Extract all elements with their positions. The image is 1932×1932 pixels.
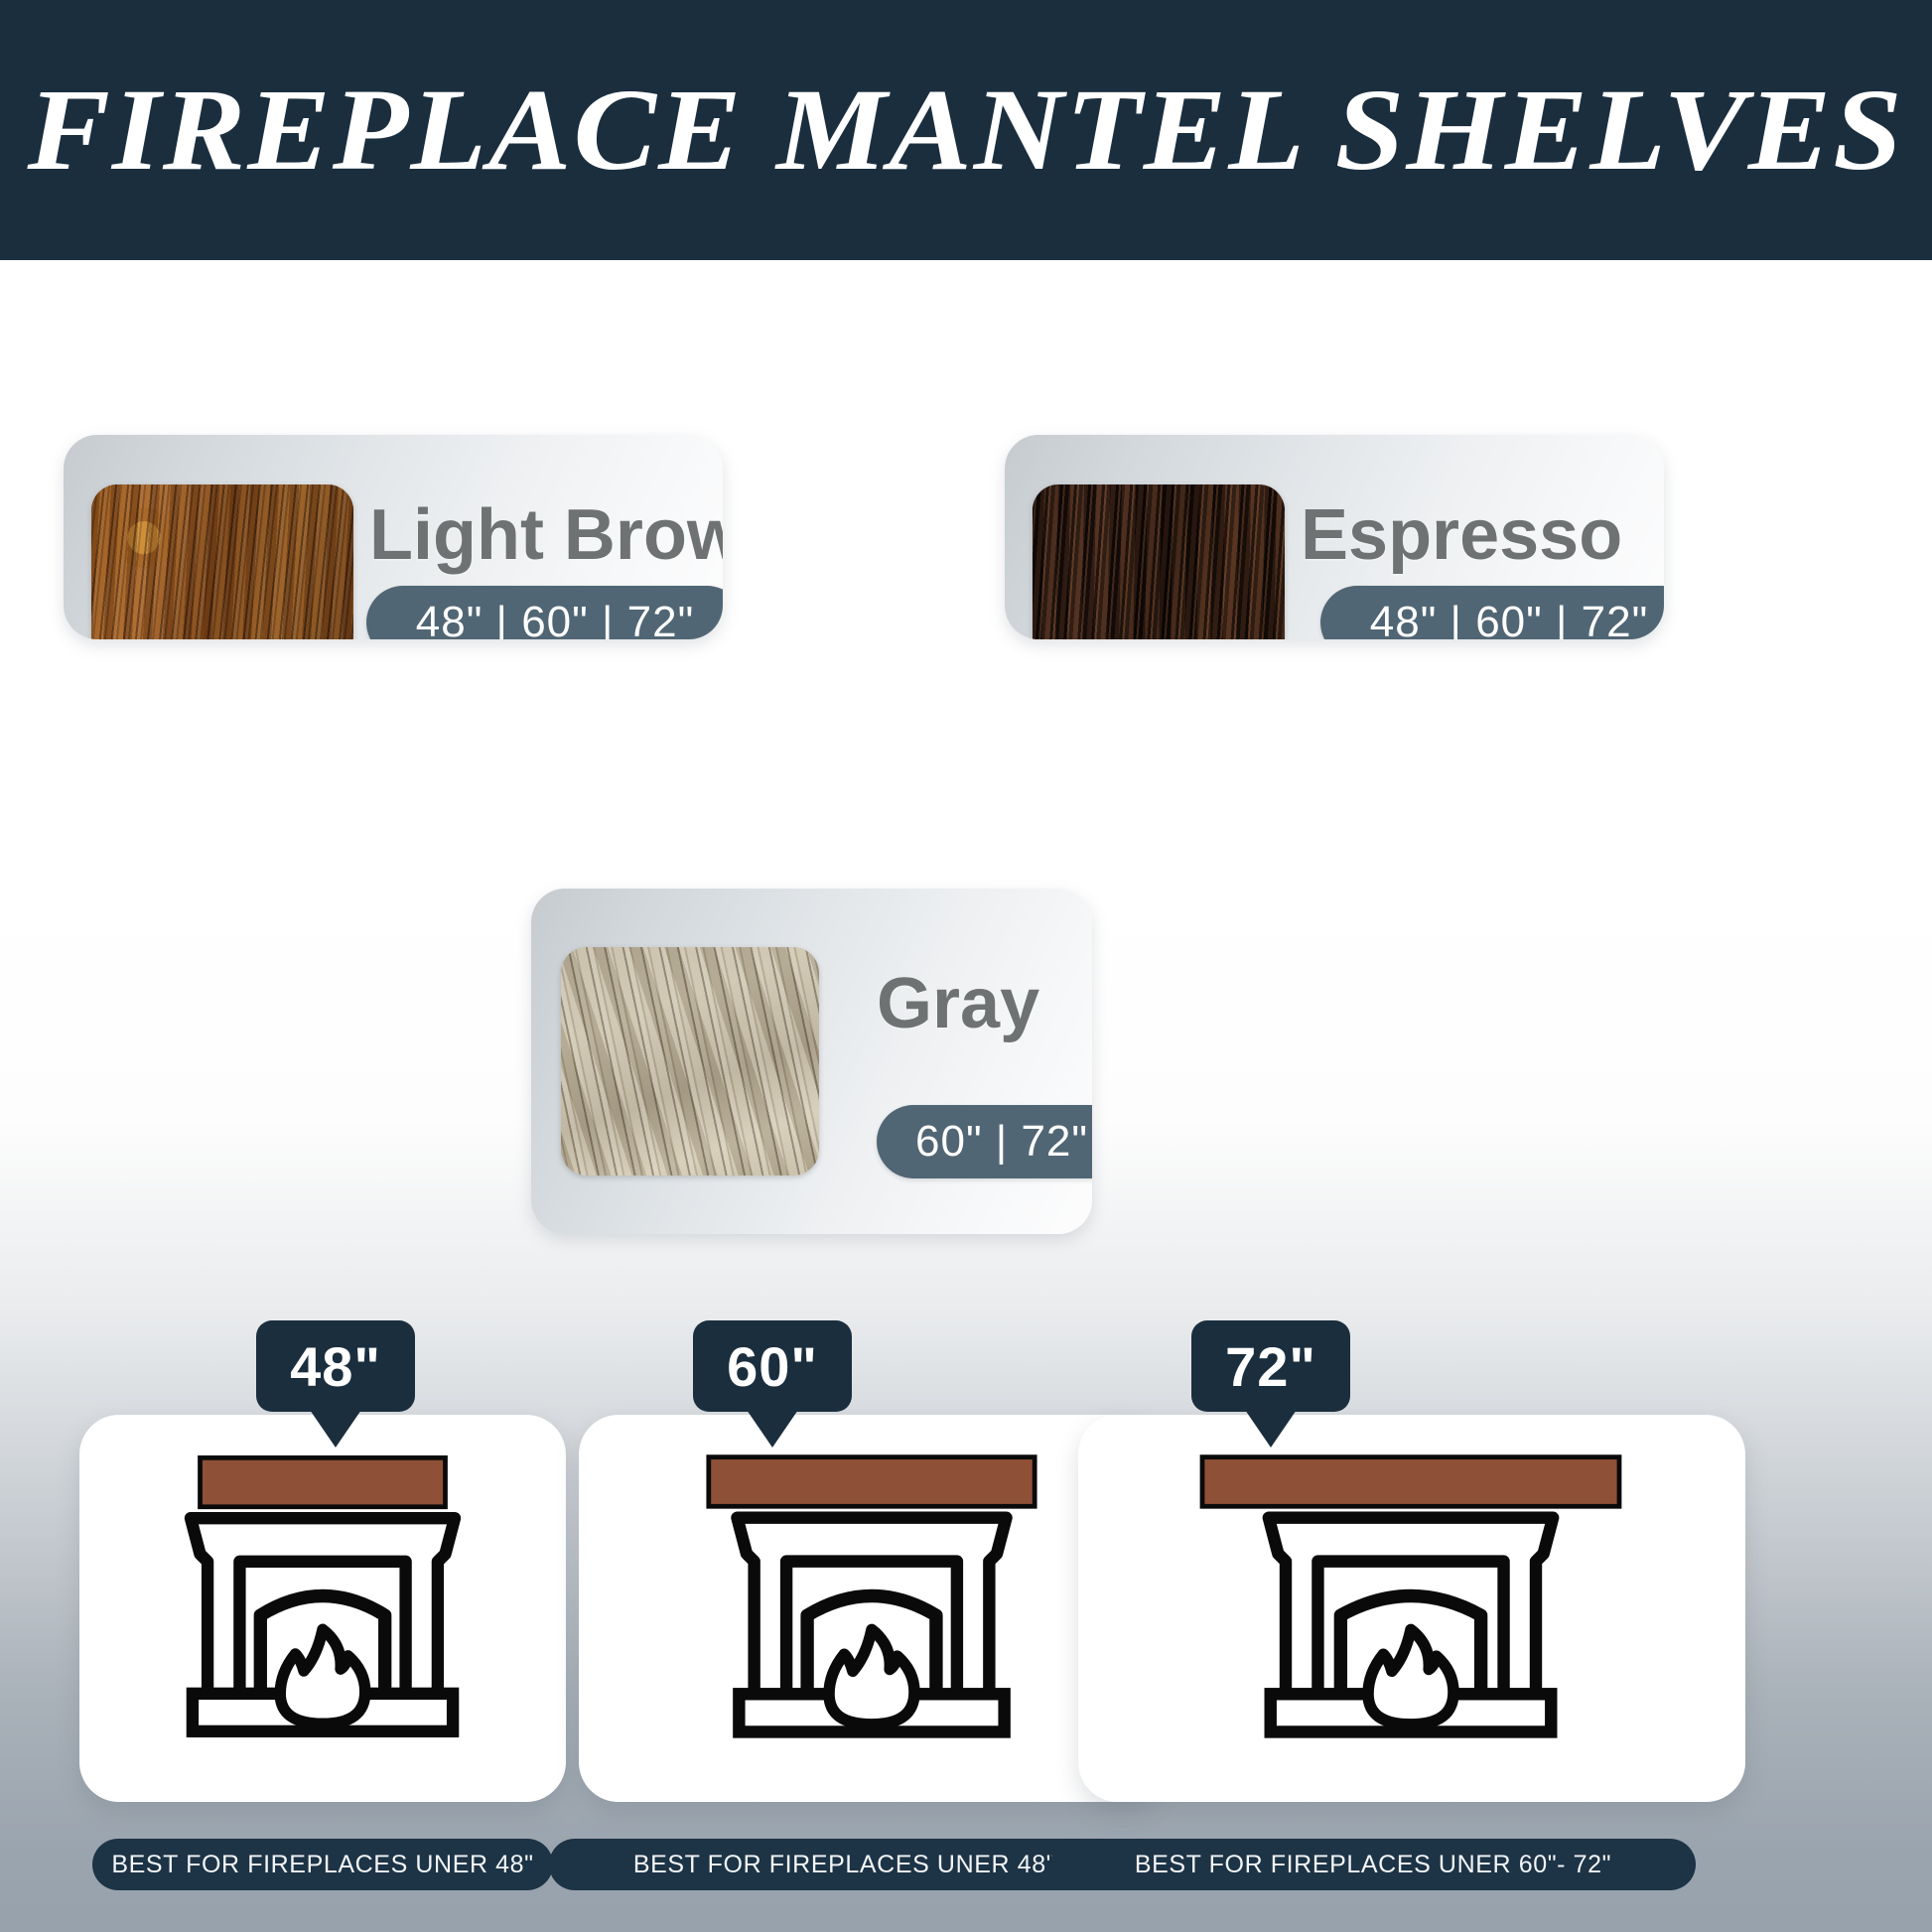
size-pill-espresso[interactable]: 48" | 60" | 72": [1320, 586, 1664, 639]
size-card-60[interactable]: [579, 1415, 1165, 1802]
fireplace-icon: [633, 1449, 1110, 1762]
size-caption-72: BEST FOR FIREPLACES UNER 60"- 72": [1050, 1839, 1696, 1890]
size-card-72[interactable]: [1078, 1415, 1745, 1802]
finish-name-espresso: Espresso: [1301, 494, 1622, 576]
fireplace-icon: [134, 1449, 511, 1762]
finish-card-gray[interactable]: Gray 60" | 72": [531, 889, 1092, 1234]
size-card-48[interactable]: [79, 1415, 566, 1802]
finish-card-espresso[interactable]: Espresso 48" | 60" | 72": [1005, 435, 1664, 639]
size-caption-48: BEST FOR FIREPLACES UNER 48": [92, 1839, 553, 1890]
fireplace-icon: [1123, 1449, 1699, 1762]
finish-name-light-brown: Light Brown: [369, 494, 723, 576]
light-brown-wood-swatch: [91, 484, 353, 639]
badge-tail-icon: [1245, 1410, 1297, 1448]
badge-tail-icon: [747, 1410, 798, 1448]
badge-tail-icon: [310, 1410, 361, 1448]
size-badge-48: 48": [256, 1320, 415, 1412]
finish-name-gray: Gray: [877, 963, 1039, 1044]
page-header: FIREPLACE MANTEL SHELVES: [0, 0, 1932, 260]
espresso-wood-swatch: [1033, 484, 1285, 639]
size-pill-gray[interactable]: 60" | 72": [877, 1105, 1092, 1178]
size-badge-72-label: 72": [1225, 1334, 1316, 1399]
gray-wood-swatch: [561, 947, 819, 1175]
infographic-canvas: FIREPLACE MANTEL SHELVES Light Brown 48"…: [0, 0, 1932, 1932]
size-badge-60: 60": [693, 1320, 852, 1412]
page-title: FIREPLACE MANTEL SHELVES: [28, 63, 1905, 198]
size-badge-60-label: 60": [727, 1334, 818, 1399]
size-badge-72: 72": [1191, 1320, 1350, 1412]
finish-card-light-brown[interactable]: Light Brown 48" | 60" | 72": [64, 435, 723, 639]
size-badge-48-label: 48": [290, 1334, 381, 1399]
size-pill-light-brown[interactable]: 48" | 60" | 72": [366, 586, 723, 639]
